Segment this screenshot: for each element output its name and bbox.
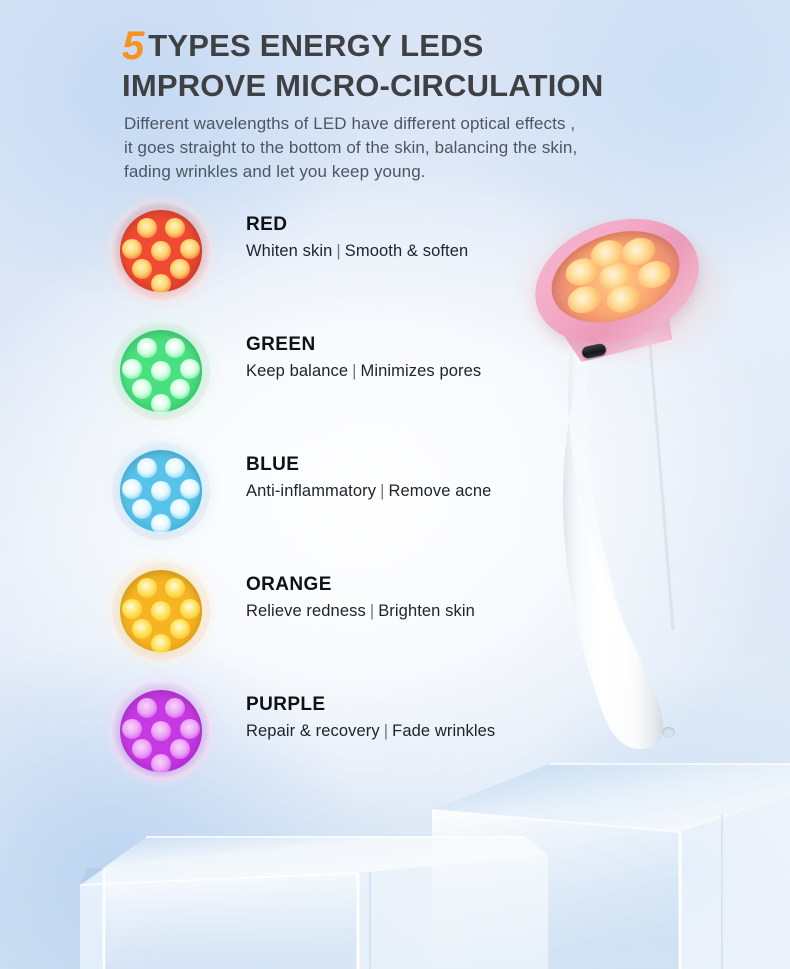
led-desc-purple: Repair & recovery|Fade wrinkles: [246, 722, 546, 741]
led-dot: [137, 458, 157, 478]
led-separator-green: |: [348, 362, 360, 380]
led-desc-blue: Anti-inflammatory|Remove acne: [246, 482, 546, 501]
headline-block: 5TYPES ENERGY LEDS IMPROVE MICRO-CIRCULA…: [122, 26, 722, 105]
led-dot: [151, 754, 171, 774]
led-dot: [137, 698, 157, 718]
led-mode-row-blue: BLUE Anti-inflammatory|Remove acne: [0, 436, 540, 556]
led-dot: [170, 499, 190, 519]
headline-line-2: IMPROVE MICRO-CIRCULATION: [122, 66, 722, 106]
led-text-blue: BLUE Anti-inflammatory|Remove acne: [246, 454, 546, 501]
led-dot: [180, 719, 200, 739]
led-separator-orange: |: [366, 602, 378, 620]
led-text-green: GREEN Keep balance|Minimizes pores: [246, 334, 546, 381]
led-dot: [122, 479, 142, 499]
device-led-6: [564, 282, 605, 318]
led-dot: [165, 458, 185, 478]
led-dot: [151, 481, 171, 501]
description-line-1: Different wavelengths of LED have differ…: [124, 112, 684, 136]
headline-number: 5: [122, 30, 143, 62]
led-dot: [170, 739, 190, 759]
led-dot: [132, 259, 152, 279]
led-dot: [180, 599, 200, 619]
led-therapy-device: [505, 215, 790, 795]
led-separator-purple: |: [380, 722, 392, 740]
led-benefit-1-green: Keep balance: [246, 362, 348, 380]
led-benefit-2-green: Minimizes pores: [361, 362, 482, 380]
led-dot: [170, 619, 190, 639]
led-dot: [180, 239, 200, 259]
led-dot: [151, 241, 171, 261]
led-dot: [151, 634, 171, 654]
led-text-red: RED Whiten skin|Smooth & soften: [246, 214, 546, 261]
led-dot: [132, 379, 152, 399]
led-mode-row-green: GREEN Keep balance|Minimizes pores: [0, 316, 540, 436]
glass-block-front: [58, 803, 548, 969]
led-mode-row-red: RED Whiten skin|Smooth & soften: [0, 196, 540, 316]
led-desc-red: Whiten skin|Smooth & soften: [246, 242, 546, 261]
led-dot: [122, 599, 142, 619]
led-dot: [180, 359, 200, 379]
device-tip-detail: [662, 727, 675, 738]
led-dot: [165, 698, 185, 718]
led-face-orange: [120, 570, 202, 652]
led-dot: [170, 379, 190, 399]
led-name-purple: PURPLE: [246, 694, 546, 716]
led-face-green: [120, 330, 202, 412]
led-text-purple: PURPLE Repair & recovery|Fade wrinkles: [246, 694, 546, 741]
led-dot: [151, 721, 171, 741]
led-benefit-2-red: Smooth & soften: [345, 242, 469, 260]
led-mode-row-orange: ORANGE Relieve redness|Brighten skin: [0, 556, 540, 676]
led-dot: [132, 499, 152, 519]
led-dot: [122, 719, 142, 739]
led-disc-purple: [112, 682, 210, 780]
led-dot: [165, 578, 185, 598]
led-benefit-2-purple: Fade wrinkles: [392, 722, 495, 740]
description-paragraph: Different wavelengths of LED have differ…: [124, 112, 684, 184]
headline-line-1-text: TYPES ENERGY LEDS: [148, 28, 483, 63]
led-dot: [137, 338, 157, 358]
description-line-2: it goes straight to the bottom of the sk…: [124, 136, 684, 160]
led-dot: [132, 619, 152, 639]
led-dot: [137, 218, 157, 238]
led-name-red: RED: [246, 214, 546, 236]
led-face-blue: [120, 450, 202, 532]
led-mode-row-purple: PURPLE Repair & recovery|Fade wrinkles: [0, 676, 540, 796]
led-dot: [165, 338, 185, 358]
led-benefit-1-red: Whiten skin: [246, 242, 332, 260]
led-name-orange: ORANGE: [246, 574, 546, 596]
led-dot: [151, 514, 171, 534]
led-dot: [132, 739, 152, 759]
led-name-blue: BLUE: [246, 454, 546, 476]
led-desc-orange: Relieve redness|Brighten skin: [246, 602, 546, 621]
led-benefit-1-orange: Relieve redness: [246, 602, 366, 620]
led-face-red: [120, 210, 202, 292]
led-separator-red: |: [332, 242, 344, 260]
led-disc-green: [112, 322, 210, 420]
led-dot: [180, 479, 200, 499]
led-dot: [151, 601, 171, 621]
led-dot: [165, 218, 185, 238]
led-dot: [151, 274, 171, 294]
led-disc-blue: [112, 442, 210, 540]
led-dot: [137, 578, 157, 598]
led-benefit-1-blue: Anti-inflammatory: [246, 482, 376, 500]
led-dot: [151, 361, 171, 381]
led-dot: [170, 259, 190, 279]
led-benefit-2-orange: Brighten skin: [378, 602, 475, 620]
headline-line-1: 5TYPES ENERGY LEDS: [122, 26, 722, 66]
led-dot: [151, 394, 171, 414]
product-infographic: 5TYPES ENERGY LEDS IMPROVE MICRO-CIRCULA…: [0, 0, 790, 969]
led-disc-red: [112, 202, 210, 300]
led-face-purple: [120, 690, 202, 772]
led-name-green: GREEN: [246, 334, 546, 356]
description-line-3: fading wrinkles and let you keep young.: [124, 160, 684, 184]
led-text-orange: ORANGE Relieve redness|Brighten skin: [246, 574, 546, 621]
led-dot: [122, 239, 142, 259]
led-desc-green: Keep balance|Minimizes pores: [246, 362, 546, 381]
led-mode-list: RED Whiten skin|Smooth & soften GREEN Ke…: [0, 196, 540, 796]
led-dot: [122, 359, 142, 379]
led-benefit-1-purple: Repair & recovery: [246, 722, 380, 740]
led-separator-blue: |: [376, 482, 388, 500]
led-benefit-2-blue: Remove acne: [388, 482, 491, 500]
led-disc-orange: [112, 562, 210, 660]
